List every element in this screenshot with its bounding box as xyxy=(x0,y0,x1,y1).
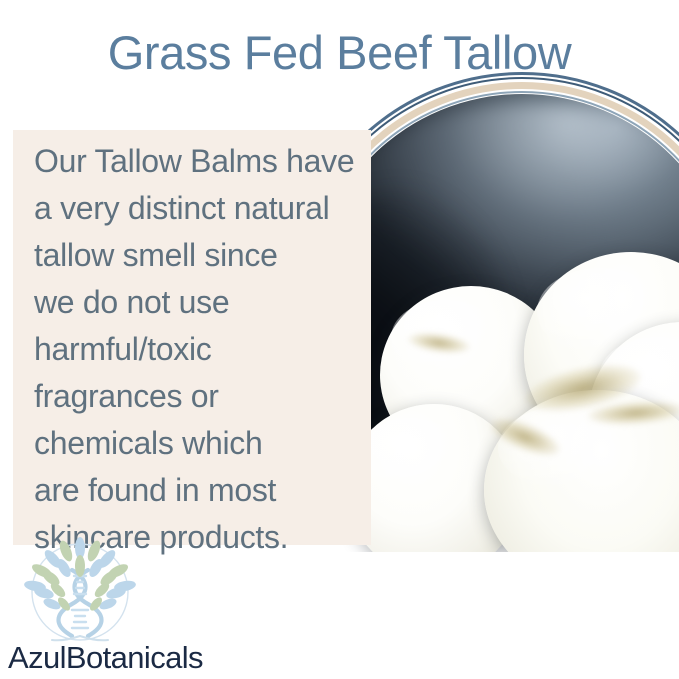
callout-panel: Our Tallow Balms have a very distinct na… xyxy=(13,130,371,545)
callout-line: Our Tallow Balms have xyxy=(34,138,364,185)
callout-line: tallow smell since xyxy=(34,232,364,279)
callout-line: we do not use xyxy=(34,279,364,326)
product-infographic: Grass Fed Beef Tallow Our Tallow Balms h… xyxy=(0,0,679,679)
brand-logo: AzulBotanicals xyxy=(8,536,208,676)
callout-line: a very distinct natural xyxy=(34,185,364,232)
callout-line: chemicals which xyxy=(34,420,364,467)
tree-dna-helix-icon xyxy=(20,536,140,644)
callout-line: harmful/toxic xyxy=(34,326,364,373)
callout-text: Our Tallow Balms have a very distinct na… xyxy=(34,138,364,561)
callout-line: are found in most xyxy=(34,467,364,514)
brand-name: AzulBotanicals xyxy=(8,640,203,676)
page-title: Grass Fed Beef Tallow xyxy=(0,24,679,82)
callout-line: fragrances or xyxy=(34,373,364,420)
